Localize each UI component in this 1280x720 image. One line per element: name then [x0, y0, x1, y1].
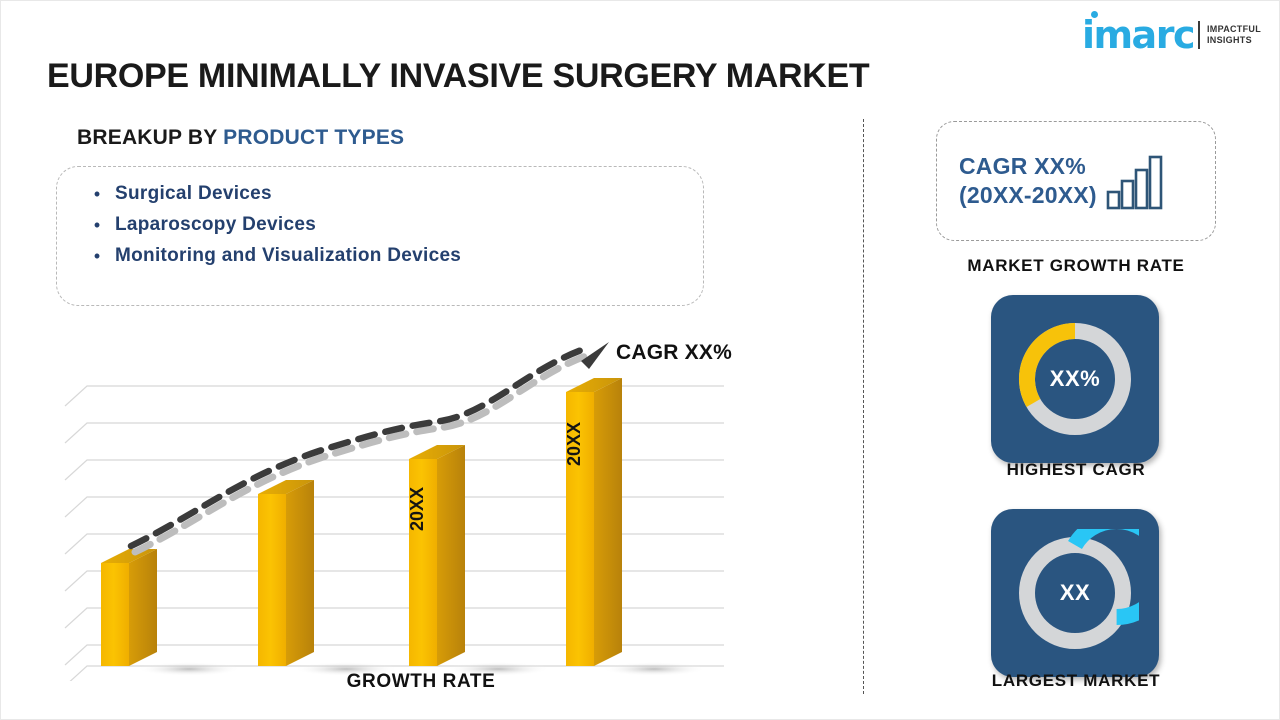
cagr-value-text: CAGR XX% (20XX-20XX): [959, 152, 1097, 210]
list-item: • Monitoring and Visualization Devices: [79, 245, 703, 267]
logo-divider: [1198, 21, 1200, 49]
chart-bar: 20XX: [564, 378, 622, 666]
bullet-dot-icon: •: [79, 214, 115, 236]
highest-cagr-value: XX%: [991, 366, 1159, 392]
largest-market-caption: LARGEST MARKET: [936, 671, 1216, 691]
cagr-line2: (20XX-20XX): [959, 181, 1097, 210]
bar-value-label: 20XX: [407, 487, 427, 531]
logo-dot-icon: [1091, 11, 1098, 18]
chart-cagr-annotation: CAGR XX%: [616, 341, 732, 365]
chart-x-axis-label: GROWTH RATE: [61, 671, 781, 693]
bullet-dot-icon: •: [79, 245, 115, 267]
highest-cagr-caption: HIGHEST CAGR: [936, 460, 1216, 480]
largest-market-card: XX: [991, 509, 1159, 677]
chart-bar: [101, 549, 157, 666]
logo-tagline-line2: INSIGHTS: [1207, 35, 1261, 46]
highest-cagr-card: XX%: [991, 295, 1159, 463]
logo-tagline-line1: IMPACTFUL: [1207, 24, 1261, 35]
page-title: EUROPE MINIMALLY INVASIVE SURGERY MARKET: [47, 57, 869, 96]
chart-bar: [258, 480, 314, 666]
largest-market-value: XX: [991, 580, 1159, 606]
bullet-dot-icon: •: [79, 183, 115, 205]
panel-divider: [863, 119, 864, 694]
subtitle-prefix: BREAKUP BY: [77, 126, 217, 149]
list-item-label: Monitoring and Visualization Devices: [115, 245, 461, 267]
product-types-box: • Surgical Devices • Laparoscopy Devices…: [56, 166, 704, 306]
chart-bar: 20XX: [407, 445, 465, 666]
chart-svg: 20XX 20XX: [61, 331, 761, 681]
bar-chart-icon: [1105, 150, 1167, 217]
logo-tagline: IMPACTFUL INSIGHTS: [1207, 24, 1261, 46]
list-item-label: Laparoscopy Devices: [115, 214, 316, 236]
chart-trend-line: [131, 342, 609, 552]
imarc-logo: imarc IMPACTFUL INSIGHTS: [1082, 15, 1261, 55]
breakup-subtitle: BREAKUP BY PRODUCT TYPES: [77, 126, 404, 150]
bar-value-label: 20XX: [564, 422, 584, 466]
list-item: • Surgical Devices: [79, 183, 703, 205]
infographic-page: imarc IMPACTFUL INSIGHTS EUROPE MINIMALL…: [0, 0, 1280, 720]
logo-text: imarc: [1082, 13, 1194, 57]
cagr-line1: CAGR XX%: [959, 152, 1097, 181]
subtitle-highlight: PRODUCT TYPES: [223, 126, 404, 149]
growth-rate-bar-chart: 20XX 20XX CAGR XX% GROWTH RATE: [61, 331, 761, 711]
list-item-label: Surgical Devices: [115, 183, 272, 205]
market-growth-rate-box: CAGR XX% (20XX-20XX): [936, 121, 1216, 241]
list-item: • Laparoscopy Devices: [79, 214, 703, 236]
logo-wordmark: imarc: [1082, 16, 1194, 54]
market-growth-rate-caption: MARKET GROWTH RATE: [936, 256, 1216, 276]
